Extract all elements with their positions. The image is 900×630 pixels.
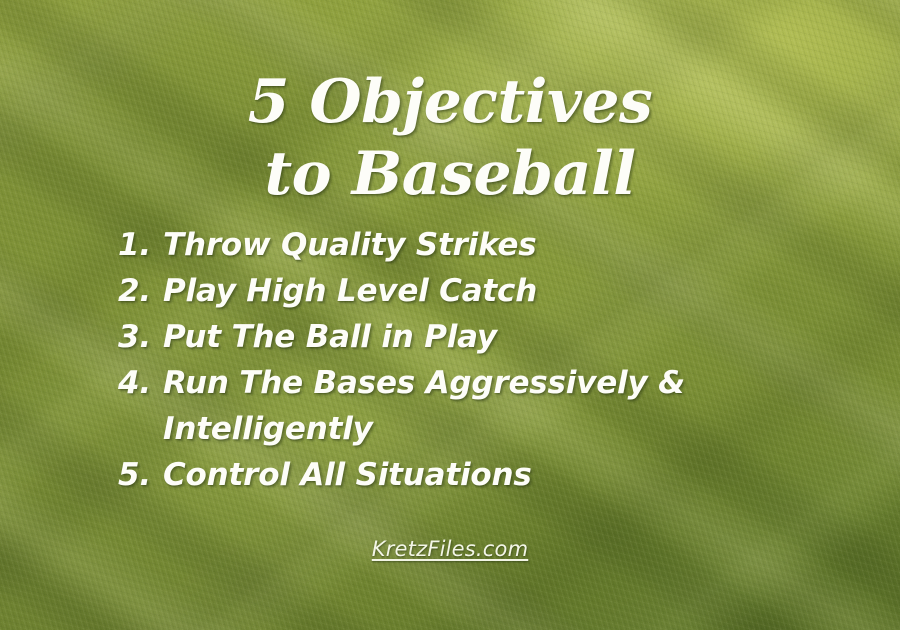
list-item: 2. Play High Level Catch [118,268,840,314]
page-title-line-2: to Baseball [0,138,900,210]
objective-number: 2. [118,268,163,314]
list-item: 1. Throw Quality Strikes [118,222,840,268]
objective-number: 3. [118,314,163,360]
objective-number: 1. [118,222,163,268]
footer-website-link[interactable]: KretzFiles.com [372,536,529,562]
objective-text: Control All Situations [163,452,840,498]
list-item: 5. Control All Situations [118,452,840,498]
objective-text: Play High Level Catch [163,268,840,314]
poster-canvas: 5 Objectives to Baseball 1. Throw Qualit… [0,0,900,630]
objective-text: Throw Quality Strikes [163,222,840,268]
page-title: 5 Objectives to Baseball [0,66,900,210]
list-item: 3. Put The Ball in Play [118,314,840,360]
footer: KretzFiles.com [0,536,900,562]
objective-text: Put The Ball in Play [163,314,840,360]
page-title-line-1: 5 Objectives [0,66,900,138]
objective-text: Run The Bases Aggressively & Intelligent… [163,360,840,452]
objective-number: 4. [118,360,163,406]
list-item: 4. Run The Bases Aggressively & Intellig… [118,360,840,452]
objective-number: 5. [118,452,163,498]
poster-content: 5 Objectives to Baseball 1. Throw Qualit… [0,0,900,630]
objectives-list: 1. Throw Quality Strikes 2. Play High Le… [118,222,840,498]
